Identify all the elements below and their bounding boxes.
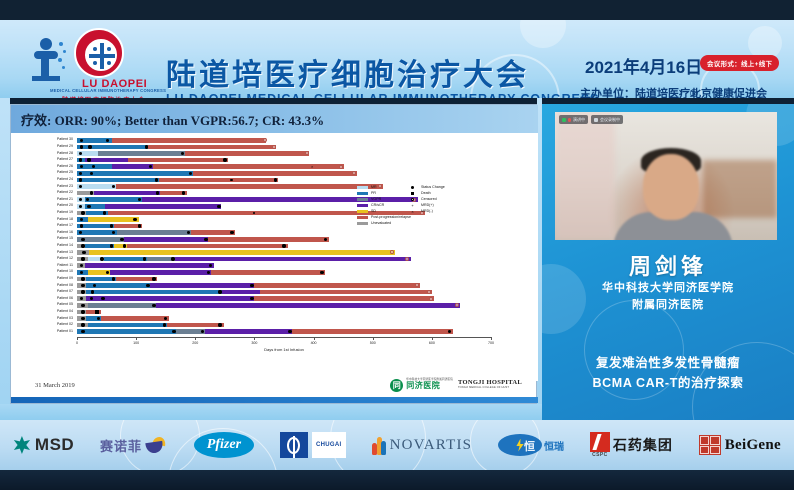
lane-marker: [133, 218, 136, 221]
lane-marker: [81, 238, 84, 241]
plot-area: Patient 30Patient 29Patient 28Patient 27…: [29, 137, 521, 351]
legend-label: VGPR: [371, 198, 381, 202]
top-letterbox: [0, 0, 794, 20]
y-axis-tick-label: Patient 23: [57, 185, 73, 189]
table-row: [77, 244, 491, 249]
table-row: ×: [77, 164, 491, 169]
table-row: [77, 145, 491, 150]
y-axis-tick-label: Patient 15: [57, 237, 73, 241]
lane-marker: [155, 178, 158, 181]
below-slide-margin: [0, 404, 542, 420]
legend-label: Unevaluated: [371, 222, 391, 226]
y-axis-tick-label: Patient 28: [57, 152, 73, 156]
y-axis-tick-label: Patient 20: [57, 204, 73, 208]
lane-segment: [191, 230, 236, 235]
lane-marker: [110, 244, 113, 247]
lane-marker: [152, 277, 155, 280]
lane-marker: [250, 284, 253, 287]
lane-segment: [150, 283, 254, 288]
lane-segment: [101, 316, 170, 321]
legend-item: MR: [357, 185, 411, 190]
lane-marker: [146, 284, 149, 287]
table-row: [77, 296, 491, 301]
lane-marker: [171, 257, 174, 260]
lane-marker: [81, 310, 84, 313]
legend-marker-icon: [407, 186, 418, 189]
table-row: [77, 310, 491, 315]
lane-marker: [82, 251, 85, 254]
lane-segment: [94, 191, 160, 196]
conference-organizer: 主办单位：陆道培医疗®: [580, 85, 698, 98]
legend-swatch-icon: [357, 216, 368, 219]
x-axis-tick: [491, 337, 492, 340]
y-axis-tick-label: Patient 21: [57, 198, 73, 202]
lane-marker: [81, 323, 84, 326]
y-axis-tick-label: Patient 11: [57, 264, 73, 268]
lane-marker: [218, 290, 221, 293]
microphone-icon: [568, 118, 571, 122]
conference-format-badge: 会议形式：线上+线下: [700, 55, 779, 71]
logo-sub-en: MEDICAL CELLULAR IMMUNOTHERAPY CONGRESS: [50, 88, 166, 93]
y-axis-tick-label: Patient 18: [57, 218, 73, 222]
lane-segment: [104, 257, 147, 262]
lane-marker: [87, 158, 90, 161]
left-margin: [0, 98, 10, 420]
table-row: [77, 250, 491, 255]
lane-marker: [81, 330, 84, 333]
table-row: [77, 263, 491, 268]
lane-marker: [207, 271, 210, 274]
logo-seal-icon: [74, 28, 124, 78]
lane-marker: [81, 290, 84, 293]
x-axis: 0100200300400500600700: [77, 337, 491, 338]
lane-marker: [218, 323, 221, 326]
swimmer-plot: Patient 30Patient 29Patient 28Patient 27…: [11, 133, 538, 381]
legend-item: +MRD(+): [407, 203, 445, 208]
lane-segment: [127, 244, 288, 249]
legend-item: VGPR: [357, 197, 411, 202]
conference-title-en: LU DAOPEI MEDICAL CELLULAR IMMUNOTHERAPY…: [166, 92, 599, 98]
legend-swatch-icon: [357, 204, 368, 207]
x-axis-tick-label: 700: [488, 341, 494, 345]
lane-segment: [86, 178, 158, 183]
broadcast-stage: LU DAOPEI MEDICAL CELLULAR IMMUNOTHERAPY…: [0, 0, 794, 490]
legend-item: Unevaluated: [357, 221, 411, 226]
legend-item: Death: [407, 191, 445, 196]
x-axis-tick: [136, 337, 137, 340]
y-axis-tick-label: Patient 25: [57, 171, 73, 175]
sponsor-label: 石药集团: [613, 435, 673, 455]
conference-date: 2021年4月16日: [585, 53, 702, 78]
sponsor-hengrui[interactable]: 恒 恒瑞: [498, 434, 564, 456]
lane-segment: [260, 290, 432, 295]
lane-segment: [159, 178, 278, 183]
patient-lanes: ×: [77, 137, 491, 335]
lane-marker: [79, 158, 82, 161]
conference-organizer-secondary: 北京健康促进会: [690, 85, 767, 98]
hospital-mark-icon: 同: [390, 379, 403, 392]
lane-segment: [128, 158, 228, 163]
x-axis-tick: [373, 337, 374, 340]
video-speaker-face: [643, 154, 699, 220]
table-row: [77, 290, 491, 295]
novartis-logo-icon: [372, 435, 386, 455]
lane-marker: [81, 284, 84, 287]
lane-segment: [153, 164, 345, 169]
lane-segment: [148, 145, 276, 150]
lane-marker: [81, 244, 84, 247]
legend-label: Death: [421, 192, 431, 196]
x-axis-tick: [195, 337, 196, 340]
y-axis-tick-label: Patient 08: [57, 284, 73, 288]
hospital-name-cn: 同济医院: [406, 382, 453, 390]
speaker-affiliation-line1: 华中科技大学同济医学院: [542, 279, 794, 295]
y-axis-tick-label: Patient 24: [57, 178, 73, 182]
lane-marker: [427, 290, 431, 294]
speaker-video[interactable]: 演讲中 会议录制中: [555, 112, 777, 240]
table-row: [77, 158, 491, 163]
lane-segment: [167, 323, 224, 328]
lane-segment: [254, 283, 420, 288]
sponsor-bar: MSD 赛诺菲 Pfizer CHUGAI NOVARTIS 恒: [0, 420, 794, 470]
lane-marker: [272, 145, 276, 149]
lane-segment: [222, 290, 260, 295]
speaking-indicator-icon: [562, 118, 566, 122]
x-axis-tick-label: 0: [76, 341, 78, 345]
lane-marker: [123, 244, 126, 247]
sponsor-label: CHUGAI: [312, 432, 346, 458]
cspc-logo-icon: [590, 432, 610, 452]
table-row: [77, 329, 491, 334]
sanofi-logo-icon: [146, 437, 168, 453]
lane-marker: [87, 205, 90, 208]
lane-segment: [86, 145, 148, 150]
legend-marker-icon: [407, 192, 418, 195]
y-axis-tick-label: Patient 01: [57, 330, 73, 334]
lane-marker: [181, 152, 184, 155]
lane-marker: [90, 191, 93, 194]
lane-segment: [88, 323, 167, 328]
lane-marker: [156, 191, 159, 194]
lane-segment: [89, 250, 395, 255]
y-axis-tick-label: Patient 29: [57, 145, 73, 149]
y-axis-tick-label: Patient 14: [57, 244, 73, 248]
y-axis-tick-label: Patient 06: [57, 297, 73, 301]
legend-label: Status Change: [421, 186, 445, 190]
video-badge-label-1: 演讲中: [573, 117, 585, 123]
lane-marker: [263, 138, 267, 142]
chugai-logo-icon: [280, 432, 308, 458]
speaker-panel: 演讲中 会议录制中 周剑锋 华中科技大学同济医学院 附属同济医院 复发难治性多发…: [542, 104, 794, 420]
video-status-badges: 演讲中 会议录制中: [559, 115, 623, 124]
sponsor-msd[interactable]: MSD: [13, 435, 74, 455]
y-axis-tick-label: Patient 02: [57, 323, 73, 327]
bottom-letterbox: [0, 470, 794, 490]
lane-segment: [86, 296, 254, 301]
legend-label: SD: [371, 210, 376, 214]
lane-marker: [223, 158, 226, 161]
lane-segment: [85, 158, 128, 163]
lane-segment: [90, 329, 176, 334]
sponsor-sanofi[interactable]: 赛诺菲: [100, 436, 168, 455]
lane-segment: [88, 217, 139, 222]
lane-segment: [116, 184, 383, 189]
conference-header: LU DAOPEI MEDICAL CELLULAR IMMUNOTHERAPY…: [0, 20, 794, 98]
video-recording-badge: 会议录制中: [591, 115, 623, 124]
legend-item: SD: [357, 209, 411, 214]
lane-segment: [124, 237, 208, 242]
lane-marker: [163, 323, 166, 326]
speaker-name: 周剑锋: [542, 249, 794, 281]
sponsor-label: NOVARTIS: [390, 437, 473, 454]
lane-segment: [112, 138, 266, 143]
legend-item: CR/sCR: [357, 203, 411, 208]
lane-segment: [193, 171, 357, 176]
table-row: [77, 283, 491, 288]
legend-label: MRD(-): [421, 210, 433, 214]
lane-segment: [89, 237, 124, 242]
lane-segment: [85, 263, 214, 268]
x-axis-tick: [254, 337, 255, 340]
y-axis-tick-label: Patient 05: [57, 303, 73, 307]
legend-swatch-icon: [357, 210, 368, 213]
lane-segment: [86, 290, 222, 295]
table-row: [77, 178, 491, 183]
slide-date-stamp: 31 March 2019: [35, 382, 75, 389]
legend-swatch-icon: [357, 186, 368, 189]
lane-marker: [90, 172, 93, 175]
video-background-left: [555, 112, 615, 240]
recording-indicator-icon: [594, 118, 598, 122]
lane-marker: [324, 238, 327, 241]
table-row: [77, 237, 491, 242]
congress-logo: LU DAOPEI MEDICAL CELLULAR IMMUNOTHERAPY…: [26, 26, 166, 92]
lane-marker: [110, 224, 113, 227]
x-axis-tick-label: 100: [133, 341, 139, 345]
table-row: [77, 151, 491, 156]
sponsor-beigene[interactable]: BeiGene: [699, 435, 781, 455]
legend-item: Post-progression/relapse: [357, 215, 411, 220]
legend-item: Status Change: [407, 185, 445, 190]
x-axis-tick-label: 600: [429, 341, 435, 345]
sponsor-label: BeiGene: [725, 437, 781, 454]
sponsor-label: 赛诺菲: [100, 436, 142, 455]
beigene-seal-icon: [699, 435, 721, 455]
legend-swatch-icon: [357, 192, 368, 195]
y-axis-tick-label: Patient 22: [57, 191, 73, 195]
lane-marker: [100, 257, 103, 260]
lane-marker: [81, 211, 84, 214]
lane-segment: [88, 171, 193, 176]
lane-segment: [156, 303, 460, 308]
lane-marker: [91, 290, 94, 293]
table-row: [77, 303, 491, 308]
legend-item: PR: [357, 191, 411, 196]
legend-label: Post-progression/relapse: [371, 216, 411, 220]
hospital-logo: 同 华中科技大学同济医学院附属同济医院 同济医院 TONGJI HOSPITAL…: [390, 377, 522, 393]
lane-segment: [175, 257, 410, 262]
y-axis-tick-label: Patient 27: [57, 158, 73, 162]
y-axis-tick-label: Patient 07: [57, 290, 73, 294]
y-axis-tick-label: Patient 19: [57, 211, 73, 215]
lane-marker: [230, 179, 232, 181]
y-axis-tick-label: Patient 04: [57, 310, 73, 314]
y-axis-tick-label: Patient 13: [57, 251, 73, 255]
lane-marker: [182, 191, 185, 194]
legend-symbol-column: Status ChangeDeathCensored+MRD(+)×MRD(-): [407, 185, 445, 215]
y-axis-tick-label: Patient 12: [57, 257, 73, 261]
legend-marker-icon: ×: [407, 210, 418, 214]
hospital-sub-en: TONGJI MEDICAL COLLEGE OF HUST: [458, 387, 522, 390]
lane-segment: [110, 270, 211, 275]
y-axis-tick-label: Patient 16: [57, 231, 73, 235]
video-speaking-badge: 演讲中: [559, 115, 588, 124]
table-row: [77, 171, 491, 176]
table-row: [77, 323, 491, 328]
conference-title-cn: 陆道培医疗细胞治疗大会: [166, 50, 529, 94]
x-axis-tick: [77, 337, 78, 340]
y-axis-tick-label: Patient 03: [57, 317, 73, 321]
msd-logo-icon: [13, 436, 31, 454]
sponsor-novartis[interactable]: NOVARTIS: [372, 435, 473, 455]
lane-segment: [105, 204, 221, 209]
legend-item: ×MRD(-): [407, 209, 445, 214]
lane-segment: [112, 164, 152, 169]
lane-marker: [81, 257, 84, 260]
video-background-right: [703, 160, 777, 218]
legend-marker-icon: +: [407, 204, 418, 208]
slide-title-bar: 疗效: ORR: 90%; Better than VGPR:56.7; CR:…: [11, 105, 538, 133]
legend-marker-icon: [407, 198, 418, 201]
lane-marker: [339, 165, 343, 169]
sponsor-label: Pfizer: [194, 432, 254, 458]
legend-swatch-icon: [357, 198, 368, 201]
lane-segment: [205, 329, 293, 334]
x-axis-tick: [432, 337, 433, 340]
y-axis-tick-label: Patient 17: [57, 224, 73, 228]
lane-marker: [81, 304, 84, 307]
table-row: [77, 257, 491, 262]
lane-marker: ×: [311, 165, 314, 168]
legend-label: CR/sCR: [371, 204, 384, 208]
lane-segment: [254, 296, 434, 301]
y-axis-tick-label: Patient 10: [57, 270, 73, 274]
legend-label: MR: [371, 186, 377, 190]
lane-marker: [320, 271, 323, 274]
hengrui-logo-icon: 恒: [498, 434, 542, 456]
table-row: [77, 138, 491, 143]
x-axis-tick-label: 300: [251, 341, 257, 345]
legend-item: Censored: [407, 197, 445, 202]
lane-marker: [429, 297, 433, 301]
chart-legend: MRPRVGPRCR/sCRSDPost-progression/relapse…: [357, 185, 477, 233]
lane-segment: [117, 230, 190, 235]
video-badge-label-2: 会议录制中: [600, 117, 620, 123]
slide-body: Patient 30Patient 29Patient 28Patient 27…: [11, 133, 538, 381]
speaker-topic-line1: 复发难治性多发性骨髓瘤: [542, 352, 794, 371]
speaker-topic-line2: BCMA CAR-T的治疗探索: [542, 372, 794, 391]
legend-label: Censored: [421, 198, 437, 202]
y-axis-tick-label: Patient 09: [57, 277, 73, 281]
x-axis-title: Days from 1st Infusion: [77, 347, 491, 352]
lane-segment: [86, 283, 150, 288]
slide-footer-rule: [11, 397, 538, 403]
header-bubble: [520, 20, 566, 48]
legend-label: PR: [371, 192, 376, 196]
sponsor-pfizer[interactable]: Pfizer: [194, 432, 254, 458]
lane-segment: [98, 151, 184, 156]
lane-marker: [217, 205, 220, 208]
lane-segment: [85, 197, 142, 202]
x-axis-tick-label: 500: [370, 341, 376, 345]
lane-marker: [112, 277, 115, 280]
legend-response-column: MRPRVGPRCR/sCRSDPost-progression/relapse…: [357, 185, 411, 227]
y-axis-labels: Patient 30Patient 29Patient 28Patient 27…: [29, 137, 75, 335]
y-axis-tick-label: Patient 30: [57, 138, 73, 142]
lane-marker: [288, 330, 291, 333]
lane-segment: [292, 329, 453, 334]
logo-name-cn: 陆道培医疗细胞治疗大会: [62, 94, 146, 98]
table-row: [77, 277, 491, 282]
lane-marker: [103, 211, 106, 214]
presentation-slide: 疗效: ORR: 90%; Better than VGPR:56.7; CR:…: [10, 104, 537, 404]
lane-marker: [120, 238, 123, 241]
x-axis-tick: [314, 337, 315, 340]
lane-marker: [143, 257, 146, 260]
sponsor-cspc[interactable]: CSPC 石药集团: [590, 432, 673, 458]
table-row: [77, 270, 491, 275]
table-row: [77, 316, 491, 321]
x-axis-tick-label: 400: [311, 341, 317, 345]
lane-marker: [95, 310, 98, 313]
y-axis-tick-label: Patient 26: [57, 165, 73, 169]
sponsor-chugai[interactable]: CHUGAI: [280, 432, 346, 458]
lane-marker: [152, 304, 155, 307]
lane-marker: [81, 317, 84, 320]
legend-label: MRD(+): [421, 204, 434, 208]
x-axis-tick-label: 200: [192, 341, 198, 345]
lane-segment: [85, 151, 98, 156]
lane-marker: [79, 178, 82, 181]
sponsor-label-en: CSPC: [592, 452, 608, 458]
lane-marker: [204, 238, 207, 241]
legend-swatch-icon: [357, 222, 368, 225]
lane-segment: [88, 303, 157, 308]
lane-segment: [208, 237, 329, 242]
lane-marker: [282, 244, 285, 247]
sponsor-label: MSD: [35, 435, 74, 455]
lane-segment: [185, 151, 309, 156]
lane-segment: [211, 270, 326, 275]
sponsor-label: 恒瑞: [544, 438, 564, 453]
speaker-affiliation-line2: 附属同济医院: [542, 296, 794, 312]
slide-title: 疗效: ORR: 90%; Better than VGPR:56.7; CR:…: [11, 110, 324, 129]
logo-figure-icon: [32, 38, 66, 82]
lane-marker: [88, 145, 91, 148]
lane-marker: [81, 277, 84, 280]
